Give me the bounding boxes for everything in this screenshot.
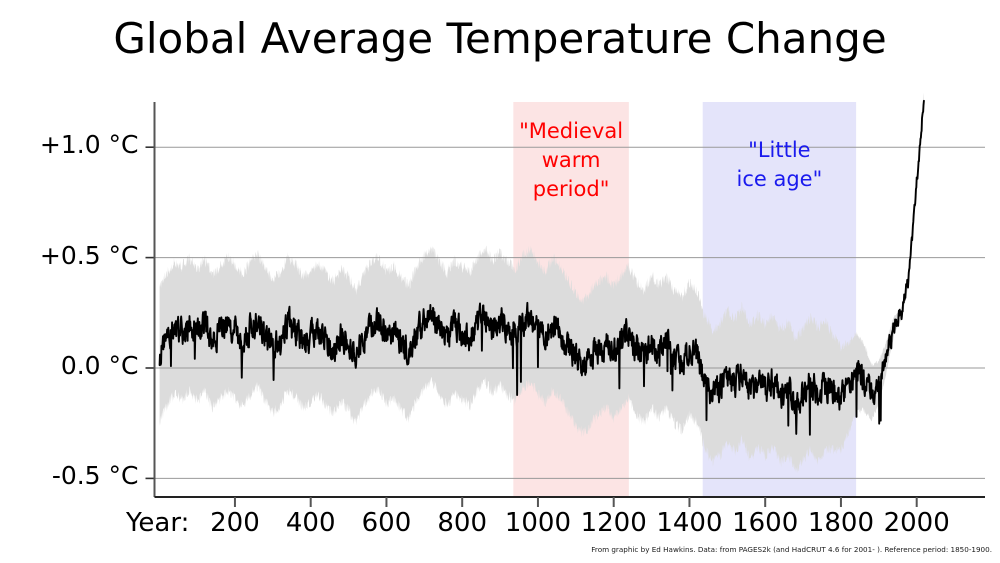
x-axis-title: Year: — [126, 508, 189, 538]
y-tick-label-0: +1.0 °C — [40, 130, 139, 159]
annotation-little-ice-age: "Little ice age" — [689, 136, 869, 194]
annotation-medieval-warm-period: "Medieval warm period" — [481, 117, 661, 204]
chart-credit: From graphic by Ed Hawkins. Data: from P… — [591, 545, 992, 554]
chart-container: Global Average Temperature Change Year: … — [0, 0, 1000, 563]
plot-area — [0, 0, 1000, 563]
y-tick-label-3: -0.5 °C — [52, 461, 139, 490]
x-tick-label-9: 2000 — [867, 508, 967, 538]
y-tick-label-2: 0.0 °C — [61, 351, 139, 380]
y-tick-label-1: +0.5 °C — [40, 241, 139, 270]
